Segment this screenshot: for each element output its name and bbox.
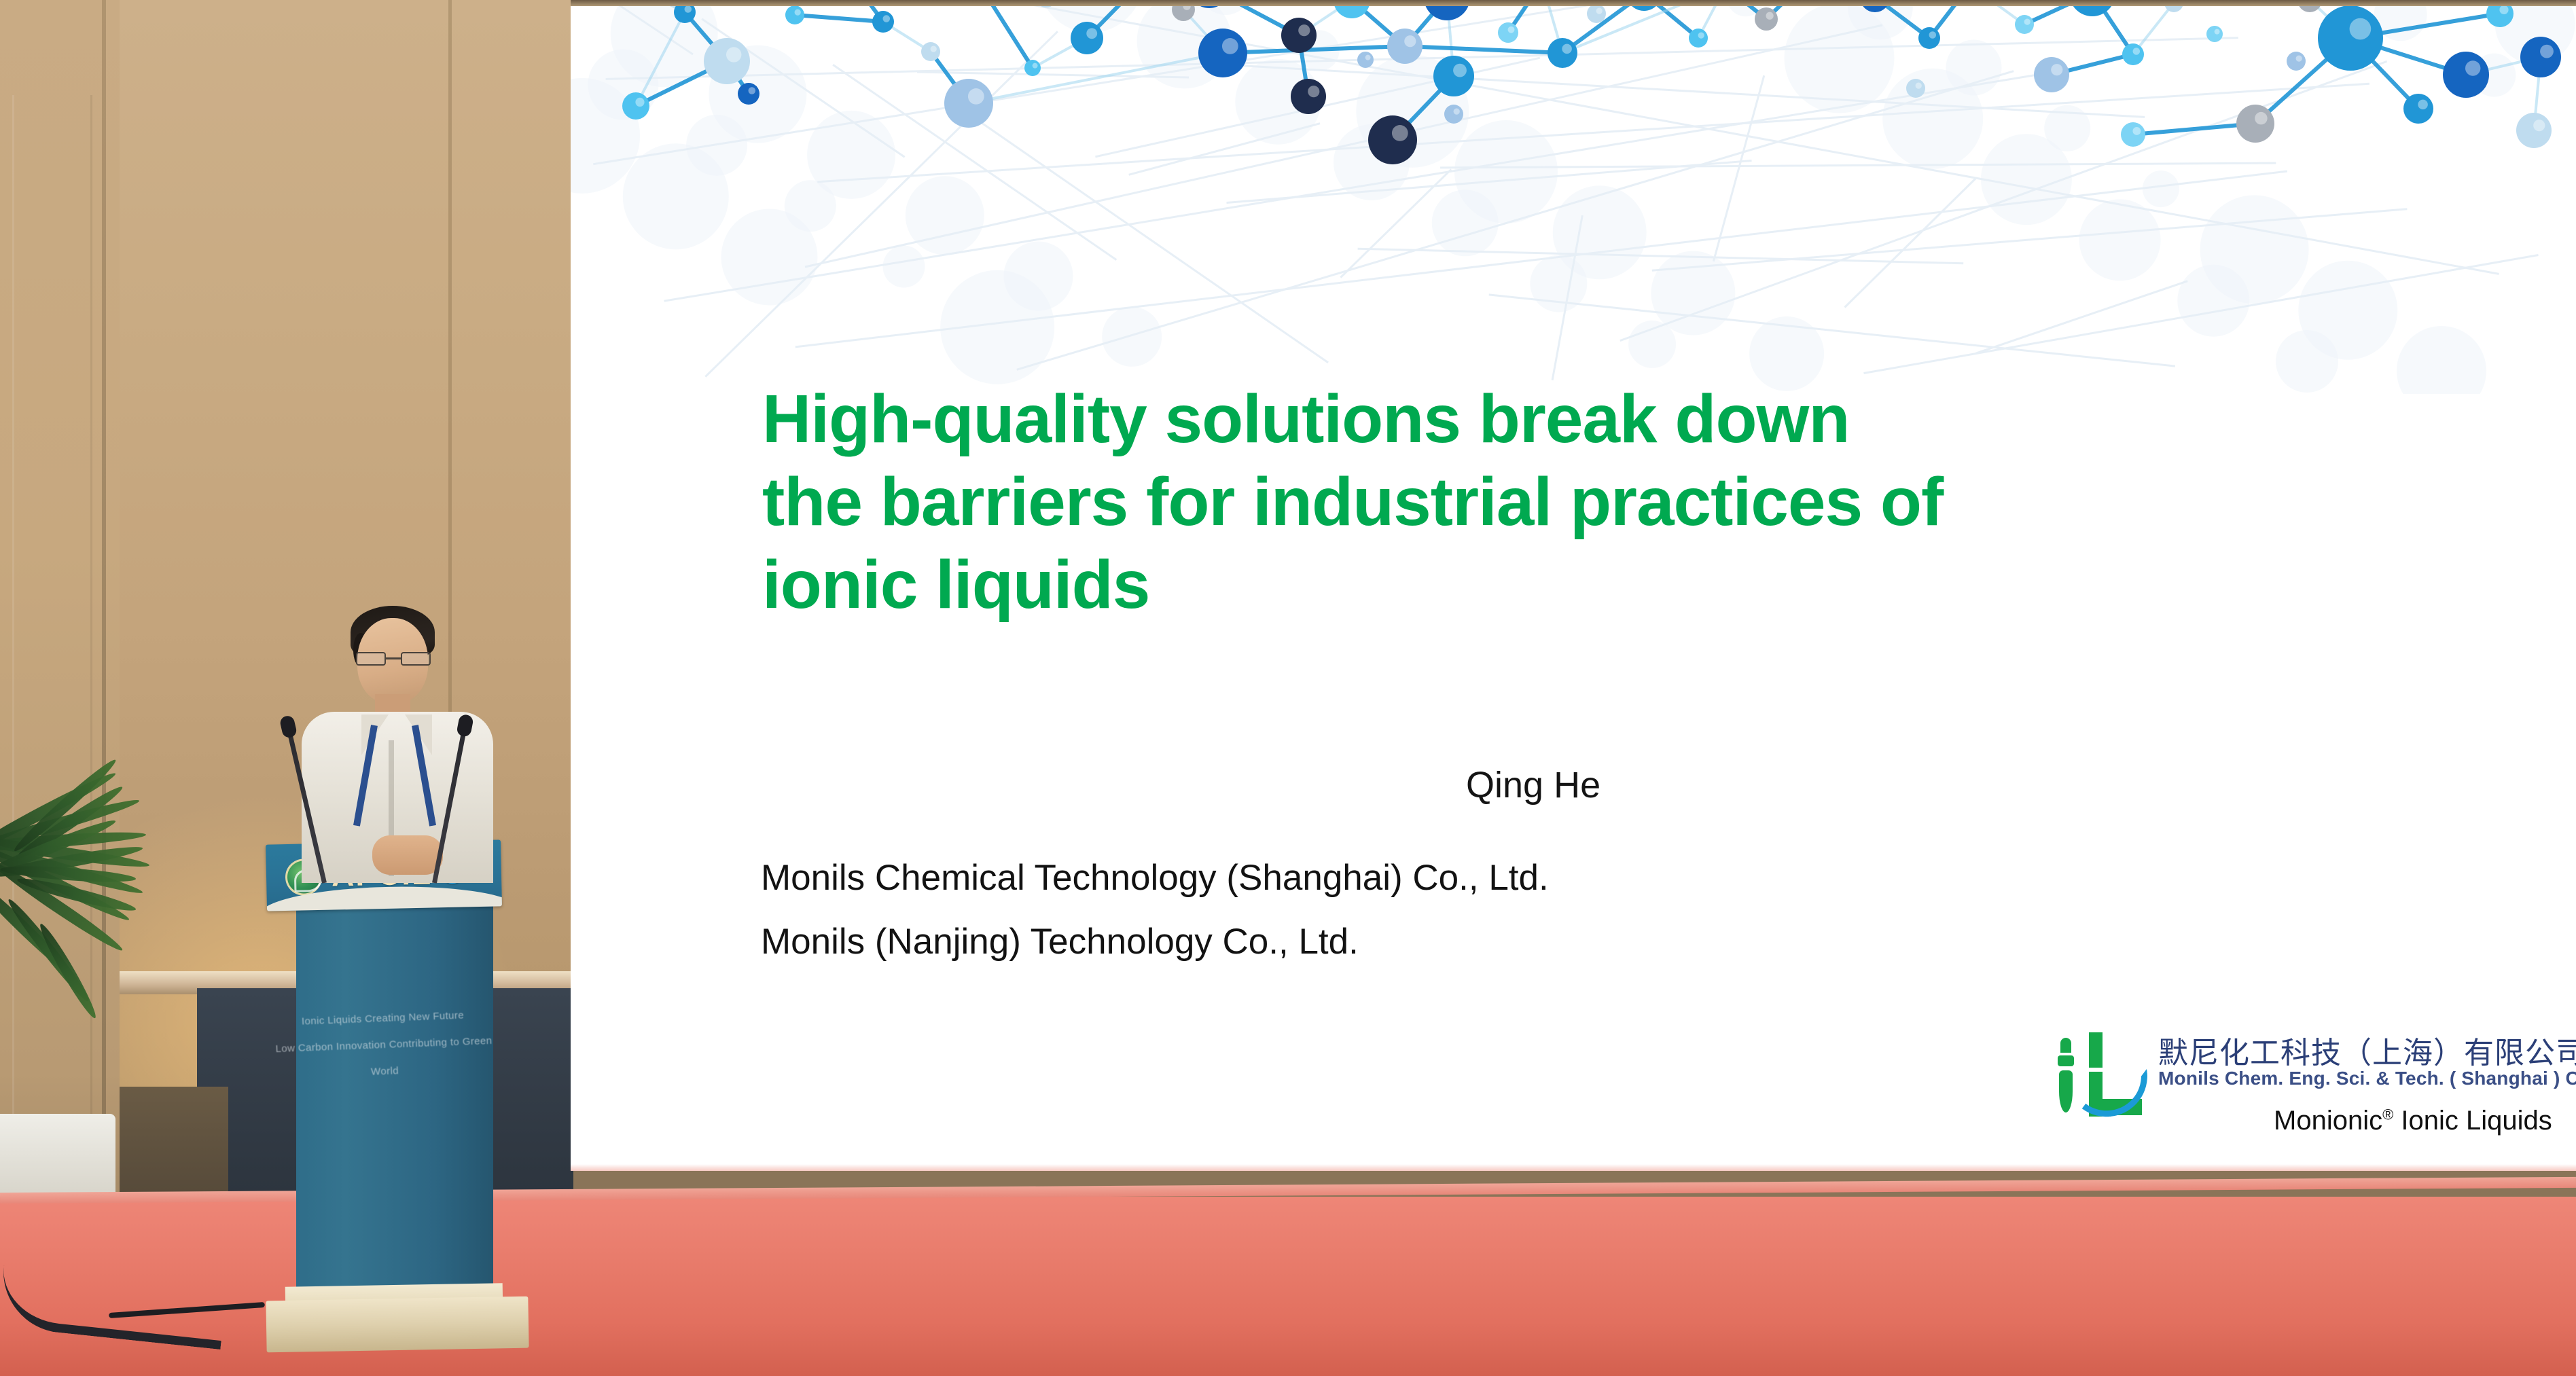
logo-chinese-name: 默尼化工科技（上海）有限公司 xyxy=(2158,1028,2576,1072)
slide-author: Qing He xyxy=(1466,764,1600,806)
slide-title-line-3: ionic liquids xyxy=(762,543,2128,626)
glasses-icon xyxy=(356,652,431,666)
podium-base xyxy=(266,1297,529,1353)
registered-mark: ® xyxy=(2382,1106,2393,1123)
company-logo-block: 默尼化工科技（上海）有限公司 Monils Chem. Eng. Sci. & … xyxy=(2048,1026,2551,1158)
podium-body xyxy=(296,875,493,1309)
presentation-photo-scene: Ionic Liquids Creating New Future Low Ca… xyxy=(0,0,2576,1376)
slide-title-line-1: High-quality solutions break down xyxy=(762,378,2128,460)
screen-bottom-fade xyxy=(571,1164,2576,1171)
affiliation-line-2: Monils (Nanjing) Technology Co., Ltd. xyxy=(761,910,1549,974)
logo-english-name: Monils Chem. Eng. Sci. & Tech. ( Shangha… xyxy=(2158,1068,2576,1089)
palm-frond xyxy=(35,921,101,1021)
slide-affiliations: Monils Chemical Technology (Shanghai) Co… xyxy=(761,846,1549,975)
presenter xyxy=(285,598,503,883)
projection-screen: High-quality solutions break down the ba… xyxy=(571,0,2576,1171)
podium-tagline: Ionic Liquids Creating New Future Low Ca… xyxy=(270,1001,497,1089)
brand-tagline-rest: Ionic Liquids xyxy=(2393,1106,2552,1136)
potted-palm-plant xyxy=(0,740,177,1148)
slide-title: High-quality solutions break down the ba… xyxy=(762,378,2128,626)
presenter-hands xyxy=(372,835,443,875)
monils-il-mark-icon xyxy=(2048,1032,2150,1121)
podium-tagline-line-2: Low Carbon Innovation Contributing to Gr… xyxy=(271,1028,497,1089)
slide-title-line-2: the barriers for industrial practices of xyxy=(762,460,2128,543)
brand-tagline-name: Monionic xyxy=(2274,1106,2382,1136)
molecular-network-graphic xyxy=(571,0,2576,394)
affiliation-line-1: Monils Chemical Technology (Shanghai) Co… xyxy=(761,846,1549,910)
brand-tagline: Monionic® Ionic Liquids xyxy=(2274,1106,2552,1136)
speaker-podium: Ionic Liquids Creating New Future Low Ca… xyxy=(272,842,503,1331)
screen-top-trim xyxy=(571,0,2576,6)
